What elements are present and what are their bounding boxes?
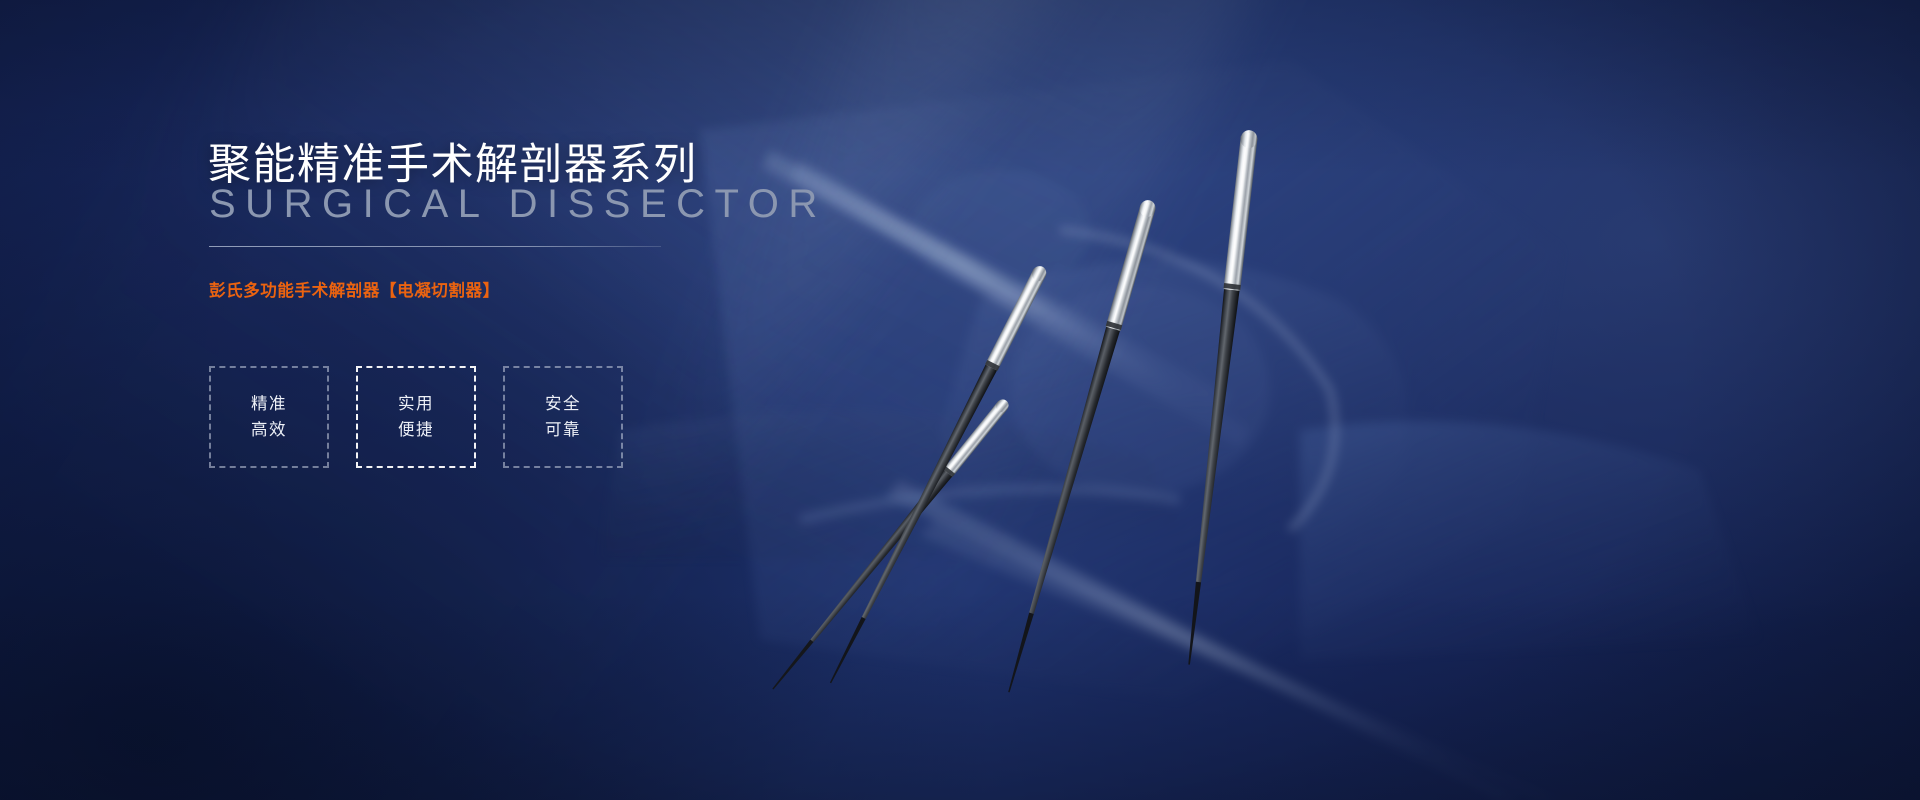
feature-badge-1-line1: 精准 bbox=[251, 396, 287, 413]
product-name-accent: 彭氏多功能手术解剖器【电凝切割器】 bbox=[209, 277, 500, 301]
feature-badge-3-line1: 安全 bbox=[545, 396, 581, 413]
feature-badge-3-line2: 可靠 bbox=[545, 422, 581, 439]
feature-badge-2: 实用 便捷 bbox=[356, 366, 476, 468]
feature-badge-group: 精准 高效 实用 便捷 安全 可靠 bbox=[209, 366, 623, 468]
feature-badge-3: 安全 可靠 bbox=[503, 366, 623, 468]
page-subtitle-english: SURGICAL DISSECTOR bbox=[209, 182, 827, 227]
feature-badge-2-line1: 实用 bbox=[398, 396, 434, 413]
hero-text-content: 聚能精准手术解剖器系列 SURGICAL DISSECTOR 彭氏多功能手术解剖… bbox=[208, 0, 968, 800]
feature-badge-2-line2: 便捷 bbox=[398, 422, 434, 439]
feature-badge-1-line2: 高效 bbox=[251, 422, 287, 439]
divider bbox=[209, 246, 661, 247]
feature-badge-1: 精准 高效 bbox=[209, 366, 329, 468]
product-hero-banner: 聚能精准手术解剖器系列 SURGICAL DISSECTOR 彭氏多功能手术解剖… bbox=[0, 0, 1920, 800]
